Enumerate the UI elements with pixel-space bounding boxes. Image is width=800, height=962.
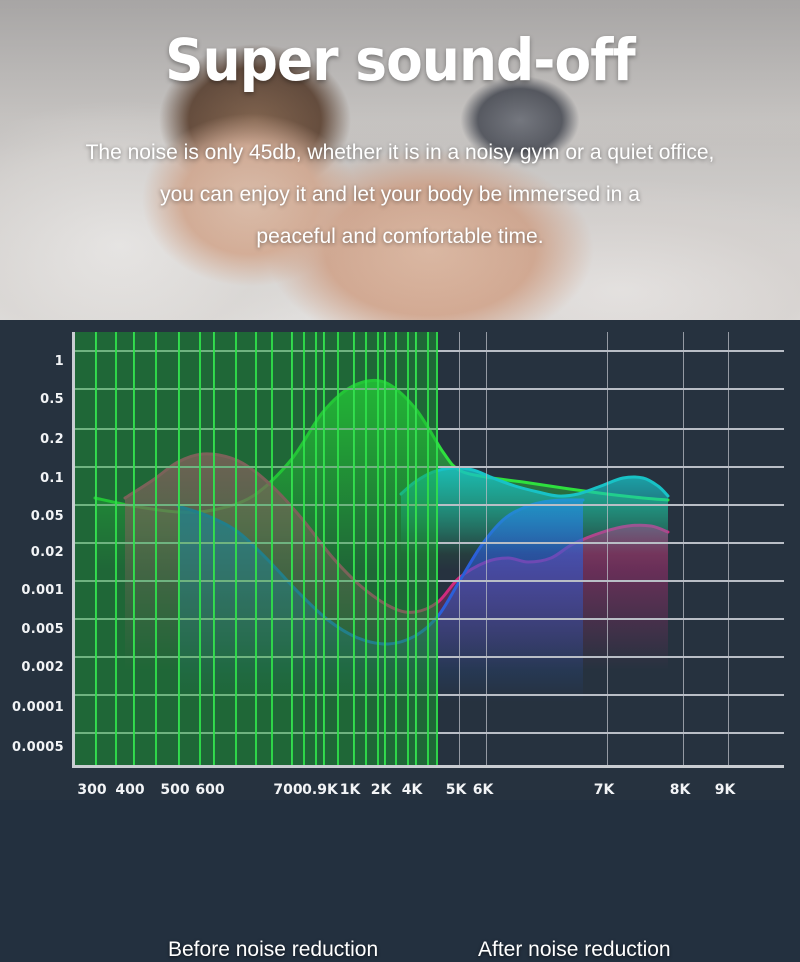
plot-area: [72, 332, 784, 768]
gridline-vertical-green: [315, 332, 317, 765]
gridline-vertical-green: [95, 332, 97, 765]
gridline-vertical-green: [199, 332, 201, 765]
gridline-vertical: [607, 332, 608, 765]
gridline-vertical-green: [213, 332, 215, 765]
gridline-vertical-green: [323, 332, 325, 765]
hero-banner: Super sound-off The noise is only 45db, …: [0, 0, 800, 320]
x-axis-tick-label: 9K: [715, 782, 736, 798]
gridline-vertical-green: [353, 332, 355, 765]
gridline-vertical-green: [365, 332, 367, 765]
hero-subtitle: The noise is only 45db, whether it is in…: [30, 132, 770, 258]
hero-subtitle-line-3: peaceful and comfortable time.: [30, 216, 770, 258]
x-axis-tick-label: 400: [115, 782, 144, 798]
x-axis-tick-label: 0.9K: [302, 782, 338, 798]
gridline-vertical-green: [377, 332, 379, 765]
gridline-vertical-green: [384, 332, 386, 765]
x-axis-tick-label: 4K: [402, 782, 423, 798]
gridline-vertical-green: [271, 332, 273, 765]
gridline-vertical-green: [407, 332, 409, 765]
gridline-vertical-green: [235, 332, 237, 765]
x-axis-tick-label: 6K: [473, 782, 494, 798]
page-title: Super sound-off: [32, 28, 768, 92]
gridline-vertical-green: [415, 332, 417, 765]
gridline-vertical-green: [337, 332, 339, 765]
x-axis-tick-label: 5K: [446, 782, 467, 798]
x-axis-tick-label: 600: [195, 782, 224, 798]
gridline-vertical-green: [395, 332, 397, 765]
gridline-vertical-green: [303, 332, 305, 765]
gridline-vertical: [728, 332, 729, 765]
x-axis-tick-label: 1K: [340, 782, 361, 798]
x-axis-tick-label: 2K: [371, 782, 392, 798]
x-axis-tick-label: 500: [160, 782, 189, 798]
gridline-vertical: [486, 332, 487, 765]
x-axis-tick-label: 700: [273, 782, 302, 798]
gridline-vertical-green: [291, 332, 293, 765]
gridline-vertical-green: [178, 332, 180, 765]
label-after-noise-reduction: After noise reduction: [478, 938, 671, 962]
noise-reduction-chart: 10.50.20.10.050.020.0010.0050.0020.00010…: [0, 320, 800, 800]
gridline-vertical-green: [255, 332, 257, 765]
gridline-vertical: [459, 332, 460, 765]
x-axis-tick-label: 8K: [670, 782, 691, 798]
gridline-vertical-green: [436, 332, 438, 765]
gridline-vertical-green: [427, 332, 429, 765]
hero-subtitle-line-2: you can enjoy it and let your body be im…: [30, 174, 770, 216]
gridline-vertical: [683, 332, 684, 765]
gridline-vertical-green: [115, 332, 117, 765]
x-axis-tick-label: 7K: [594, 782, 615, 798]
label-before-noise-reduction: Before noise reduction: [168, 938, 378, 962]
hero-subtitle-line-1: The noise is only 45db, whether it is in…: [30, 132, 770, 174]
gridline-vertical-green: [133, 332, 135, 765]
x-axis-tick-label: 300: [77, 782, 106, 798]
gridline-vertical-green: [155, 332, 157, 765]
